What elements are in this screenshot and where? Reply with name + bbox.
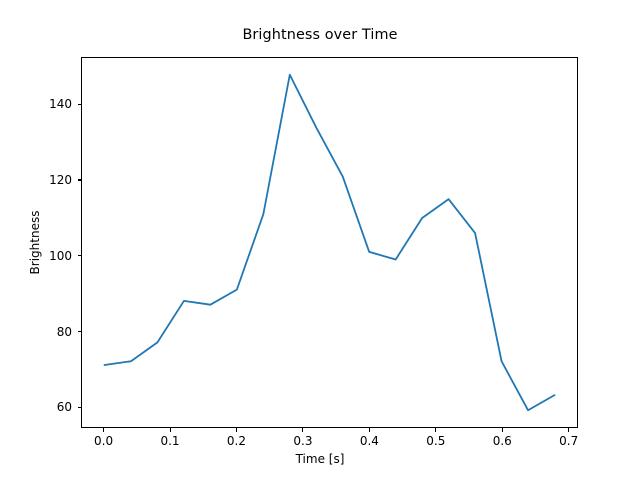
y-tick-mark bbox=[78, 407, 82, 408]
chart-figure: Brightness over Time 6080100120140 0.00.… bbox=[0, 0, 640, 480]
y-tick-mark bbox=[78, 331, 82, 332]
x-axis-label: Time [s] bbox=[0, 452, 640, 466]
x-tick-label: 0.0 bbox=[94, 434, 113, 448]
brightness-line bbox=[104, 75, 554, 410]
x-tick-mark bbox=[302, 428, 303, 432]
y-axis-label: Brightness bbox=[26, 57, 44, 428]
x-tick-label: 0.4 bbox=[360, 434, 379, 448]
x-tick-label: 0.2 bbox=[227, 434, 246, 448]
line-series-svg bbox=[82, 58, 577, 427]
x-tick-label: 0.7 bbox=[559, 434, 578, 448]
x-tick-label: 0.6 bbox=[493, 434, 512, 448]
y-tick-mark bbox=[78, 179, 82, 180]
x-tick-label: 0.3 bbox=[293, 434, 312, 448]
chart-title: Brightness over Time bbox=[0, 27, 640, 43]
y-tick-mark bbox=[78, 104, 82, 105]
x-tick-mark bbox=[435, 428, 436, 432]
x-tick-mark bbox=[502, 428, 503, 432]
x-tick-mark bbox=[369, 428, 370, 432]
y-tick-mark bbox=[78, 255, 82, 256]
x-tick-mark bbox=[170, 428, 171, 432]
x-tick-label: 0.1 bbox=[160, 434, 179, 448]
plot-axes bbox=[81, 57, 578, 428]
x-tick-mark bbox=[568, 428, 569, 432]
x-tick-label: 0.5 bbox=[426, 434, 445, 448]
x-tick-mark bbox=[103, 428, 104, 432]
x-tick-mark bbox=[236, 428, 237, 432]
